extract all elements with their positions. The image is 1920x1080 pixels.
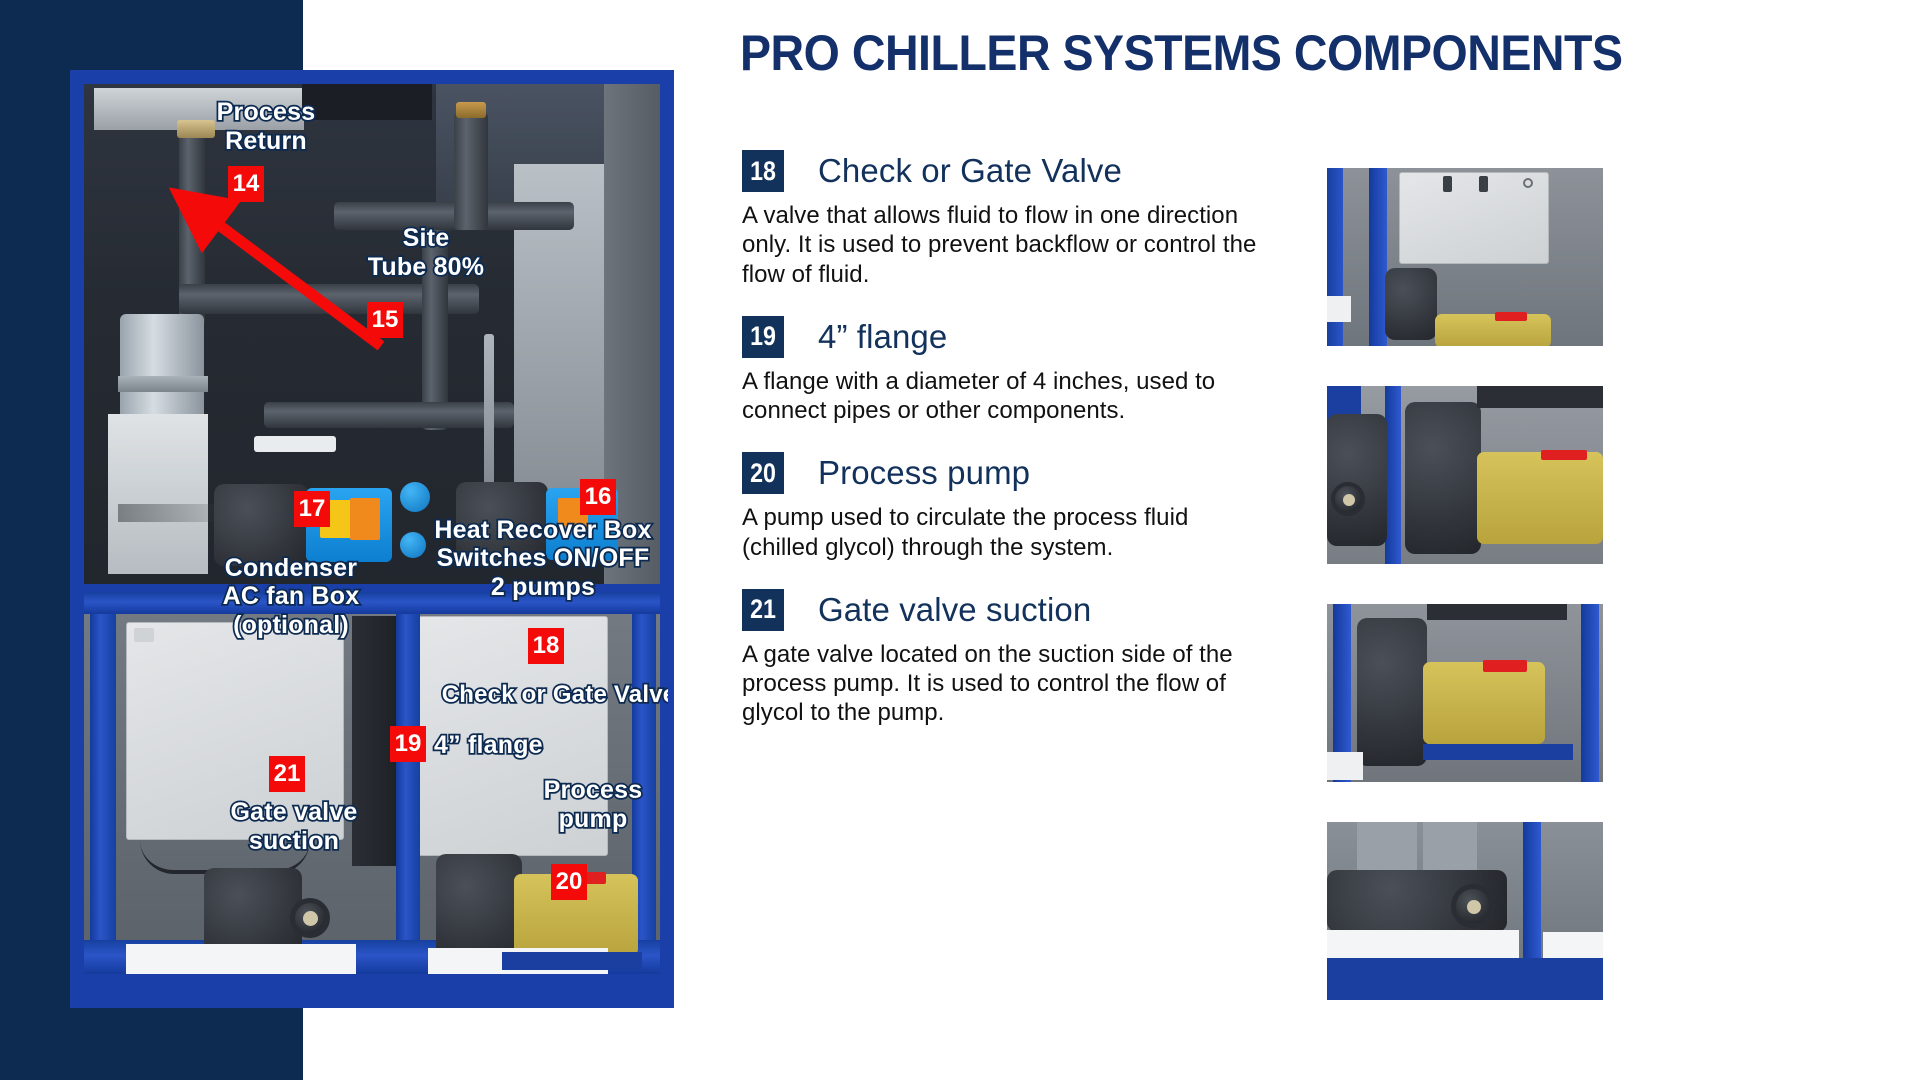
chiller-unit-photo: Process Return 14 Site Tube 80% 15 Heat … — [70, 70, 674, 1008]
proheat-logo-text — [118, 504, 228, 522]
section-title: 4” flange — [818, 318, 947, 356]
section-gate-valve-suction: 21 Gate valve suction A gate valve locat… — [742, 589, 1262, 728]
section-body: A pump used to circulate the process flu… — [742, 503, 1262, 562]
tank-base-panel — [108, 414, 208, 574]
frame-rail-top — [84, 592, 660, 614]
photo-inner: Process Return 14 Site Tube 80% 15 Heat … — [76, 76, 668, 1002]
brass-fitting-top — [177, 120, 215, 138]
photo-badge-17: 17 — [294, 491, 330, 527]
condenser-ac-fan-box — [126, 622, 344, 840]
four-inch-flange — [436, 854, 522, 962]
riser-pipe-right — [454, 112, 488, 230]
pump-base-plate — [502, 952, 642, 970]
section-head: 20 Process pump — [742, 452, 1262, 494]
photo-badge-16: 16 — [580, 479, 616, 515]
downcomer-pipe — [422, 230, 448, 430]
photo-badge-19: 19 — [390, 726, 426, 762]
four-inch-flange-photo — [1327, 386, 1603, 564]
white-floor-left — [126, 944, 356, 974]
upper-dark-beam — [302, 84, 432, 120]
check-or-gate-valve-photo — [1327, 168, 1603, 346]
frame-upright-center — [396, 592, 420, 974]
section-number: 18 — [750, 156, 776, 187]
section-title: Gate valve suction — [818, 591, 1091, 629]
mid-white-strip — [254, 436, 336, 452]
section-number-badge: 20 — [742, 452, 784, 494]
photo-badge-20: 20 — [551, 864, 587, 900]
photo-badge-15: 15 — [367, 302, 403, 338]
section-check-or-gate-valve: 18 Check or Gate Valve A valve that allo… — [742, 150, 1262, 289]
photo-badge-14: 14 — [228, 166, 264, 202]
section-number-badge: 21 — [742, 589, 784, 631]
heat-recover-box — [418, 616, 608, 856]
section-body: A flange with a diameter of 4 inches, us… — [742, 367, 1262, 426]
photo-lower-bay — [84, 592, 660, 974]
component-thumbnail-strip — [1327, 168, 1603, 1000]
section-head: 19 4” flange — [742, 316, 1262, 358]
handwheel-hub — [303, 911, 318, 926]
tank-band — [118, 376, 208, 392]
components-list: 18 Check or Gate Valve A valve that allo… — [742, 150, 1262, 755]
box-latch — [134, 628, 154, 642]
section-number: 21 — [750, 594, 776, 625]
pump-body-right — [456, 482, 548, 566]
page-title: PRO CHILLER SYSTEMS COMPONENTS — [740, 24, 1735, 82]
section-number: 19 — [750, 321, 776, 352]
section-title: Process pump — [818, 454, 1030, 492]
tag-orange-left — [350, 498, 380, 540]
process-pump-photo — [1327, 604, 1603, 782]
section-number: 20 — [750, 458, 776, 489]
lower-header-pipe — [264, 402, 514, 428]
section-head: 18 Check or Gate Valve — [742, 150, 1262, 192]
frame-upright-left — [90, 592, 116, 974]
section-number-badge: 18 — [742, 150, 784, 192]
section-number-badge: 19 — [742, 316, 784, 358]
section-process-pump: 20 Process pump A pump used to circulate… — [742, 452, 1262, 562]
section-four-inch-flange: 19 4” flange A flange with a diameter of… — [742, 316, 1262, 426]
section-body: A valve that allows fluid to flow in one… — [742, 201, 1262, 289]
gate-valve-suction-photo — [1327, 822, 1603, 1000]
valve-handle-blue-2 — [400, 532, 426, 558]
section-body: A gate valve located on the suction side… — [742, 640, 1262, 728]
section-title: Check or Gate Valve — [818, 152, 1122, 190]
section-head: 21 Gate valve suction — [742, 589, 1262, 631]
photo-badge-18: 18 — [528, 628, 564, 664]
riser-cap — [456, 102, 486, 118]
photo-badge-21: 21 — [269, 756, 305, 792]
valve-handle-blue-1 — [400, 482, 430, 512]
